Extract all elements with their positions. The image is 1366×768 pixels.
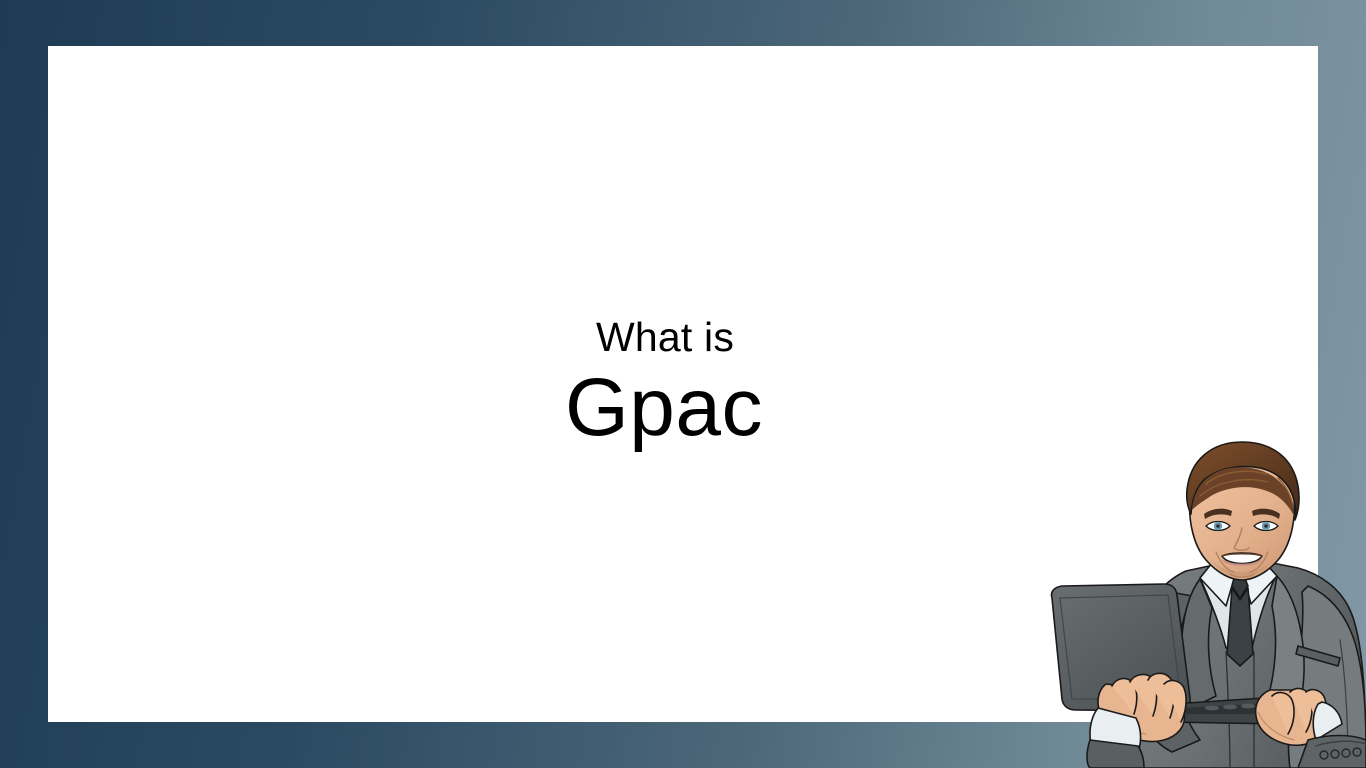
presentation-slide: What is Gpac xyxy=(0,0,1366,768)
businessman-with-laptop-illustration xyxy=(1040,440,1366,768)
slide-eyebrow-text: What is xyxy=(12,312,1318,362)
title-block: What is Gpac xyxy=(48,46,1318,456)
suit-cuff-buttons xyxy=(1298,736,1366,768)
